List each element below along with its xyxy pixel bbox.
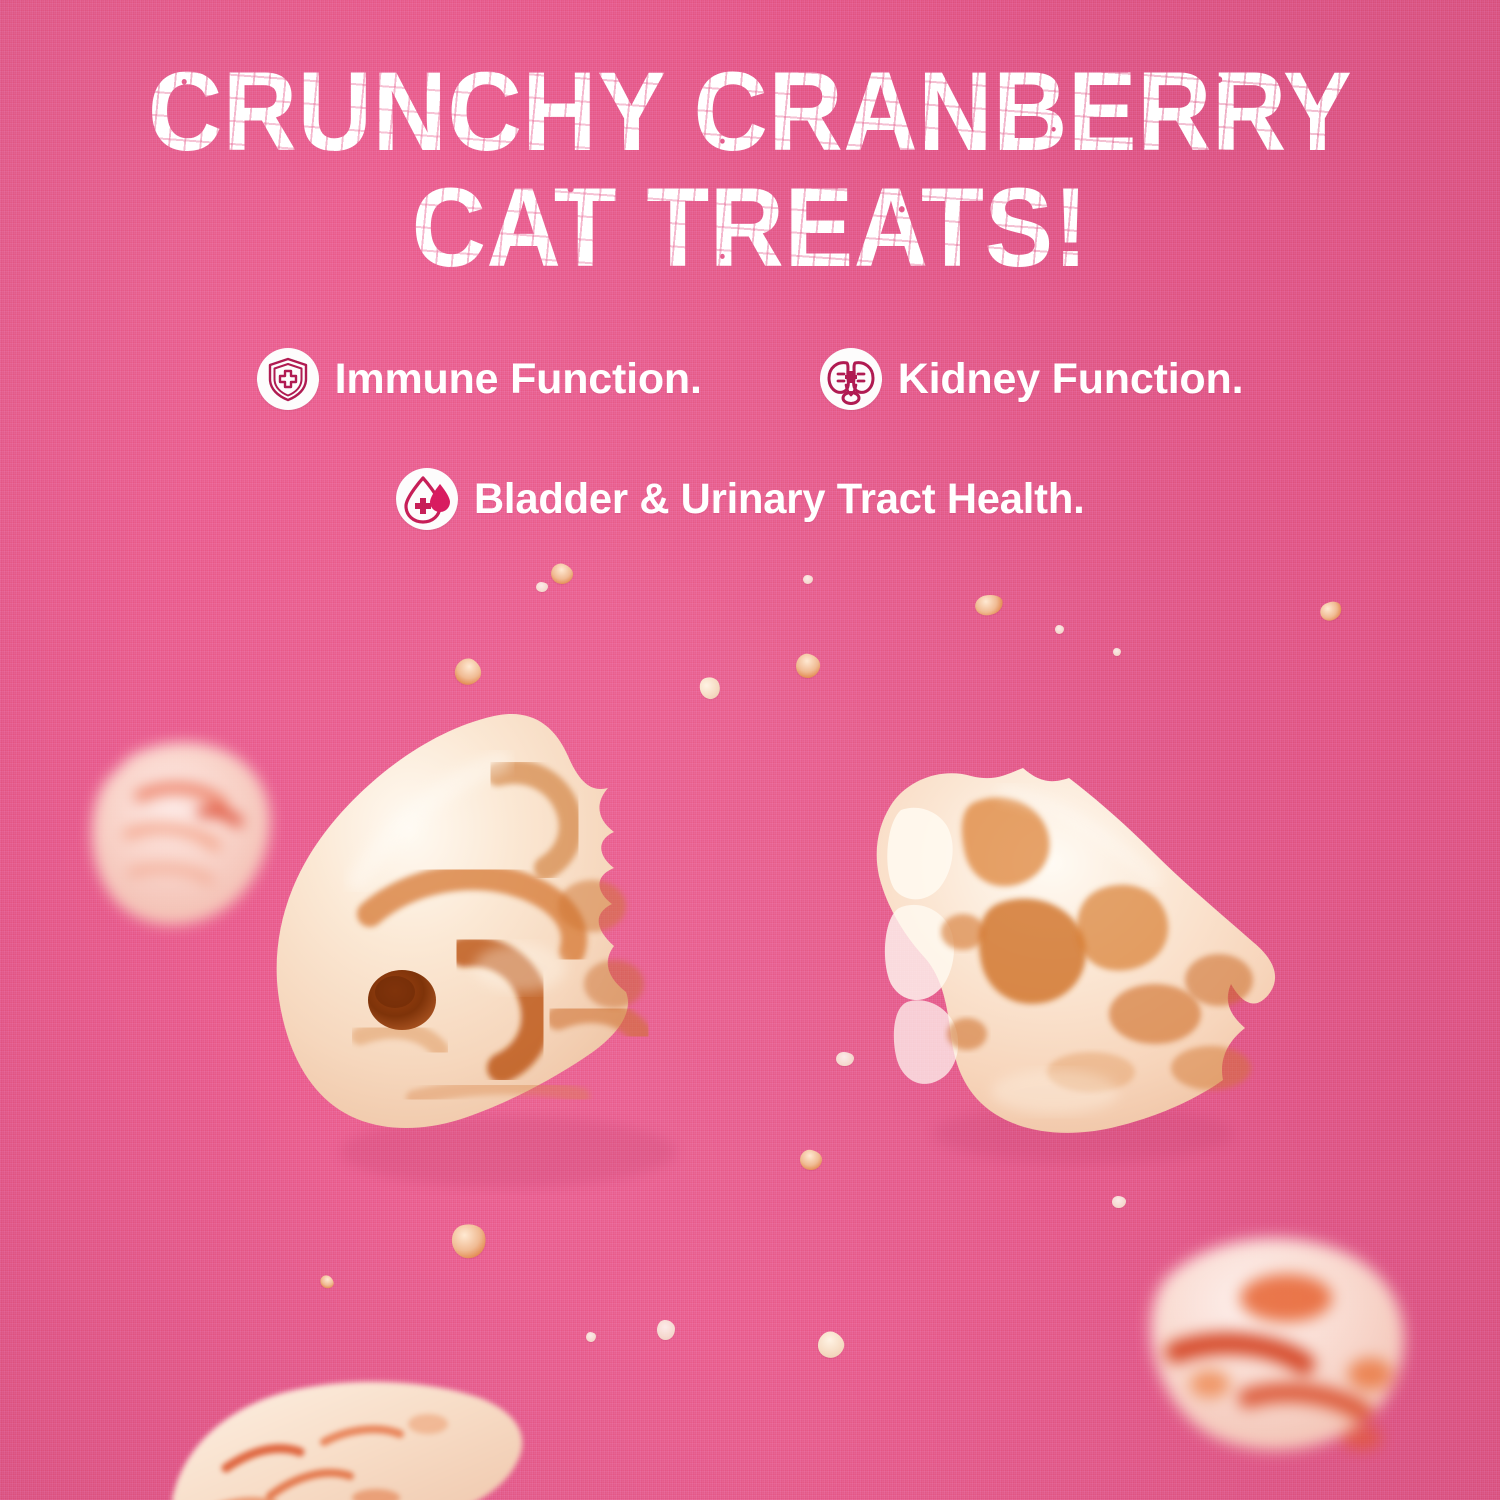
benefit-bladder-urinary: Bladder & Urinary Tract Health. bbox=[396, 468, 1103, 530]
product-lifestyle-image: CRUNCHY CRANBERRY CAT TREATS! Immune Fun… bbox=[0, 0, 1500, 1500]
benefit-kidney-function: Kidney Function. bbox=[820, 348, 1244, 410]
crumb bbox=[794, 652, 822, 680]
crumb bbox=[450, 654, 486, 690]
headline: CRUNCHY CRANBERRY CAT TREATS! bbox=[0, 58, 1500, 281]
shield-plus-icon bbox=[257, 348, 319, 410]
crumb bbox=[973, 592, 1005, 617]
crumb bbox=[1112, 1196, 1126, 1208]
crumb bbox=[836, 1052, 854, 1066]
benefit-label: Bladder & Urinary Tract Health. bbox=[474, 475, 1085, 524]
treat-bottom-cropped bbox=[160, 1372, 580, 1500]
crumb bbox=[318, 1273, 336, 1291]
benefits-list: Immune Function. bbox=[0, 348, 1500, 530]
crumb bbox=[586, 1332, 596, 1342]
crumb bbox=[1317, 598, 1345, 624]
crumb bbox=[799, 1149, 824, 1172]
treat-main-right bbox=[855, 762, 1295, 1172]
crumb bbox=[803, 575, 813, 584]
crumb bbox=[536, 582, 548, 592]
crumb bbox=[657, 1320, 675, 1340]
benefits-row-2: Bladder & Urinary Tract Health. bbox=[0, 468, 1500, 530]
crumb bbox=[548, 561, 575, 587]
blood-drop-plus-icon bbox=[396, 468, 458, 530]
benefits-row-1: Immune Function. bbox=[0, 348, 1500, 410]
kidney-icon bbox=[820, 348, 882, 410]
crumb bbox=[448, 1220, 490, 1262]
headline-line-2: CAT TREATS! bbox=[60, 174, 1440, 282]
treat-main-left bbox=[262, 700, 742, 1200]
crumb bbox=[814, 1328, 848, 1362]
headline-line-1: CRUNCHY CRANBERRY bbox=[60, 58, 1440, 166]
benefit-immune-function: Immune Function. bbox=[257, 348, 702, 410]
crumb bbox=[1055, 625, 1064, 634]
crumb bbox=[697, 674, 723, 702]
crumb bbox=[1113, 648, 1121, 656]
benefit-label: Kidney Function. bbox=[898, 355, 1244, 404]
treat-blur-right bbox=[1118, 1212, 1428, 1482]
benefit-label: Immune Function. bbox=[335, 355, 702, 404]
